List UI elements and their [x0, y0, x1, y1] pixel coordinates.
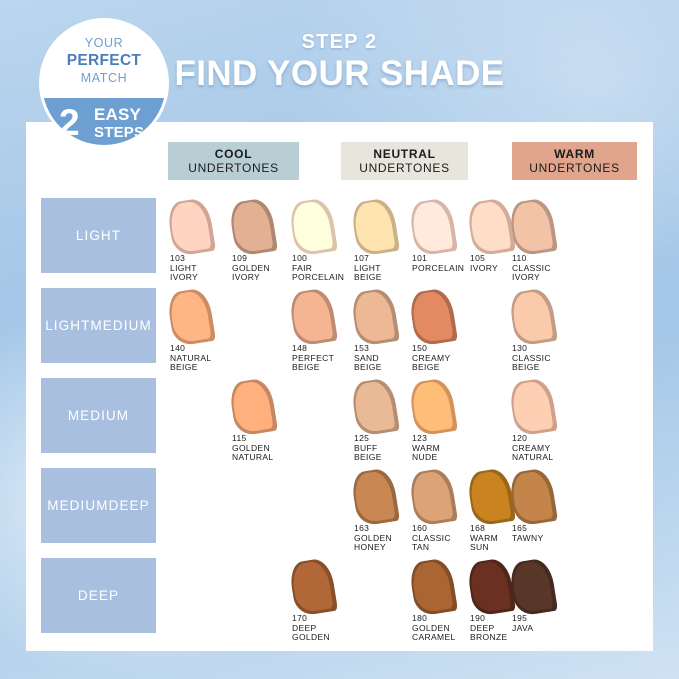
undertone-name: WARM [554, 147, 595, 161]
foundation-smear-icon [288, 557, 338, 617]
badge-line-match: MATCH [42, 71, 166, 85]
row-label-text: MEDIUM [47, 498, 108, 514]
shade-name-line: BEIGE [354, 273, 382, 283]
badge-line-perfect: PERFECT [42, 52, 166, 70]
shade-caption: 100FAIRPORCELAIN [292, 254, 344, 283]
shade-caption: 180GOLDENCARAMEL [412, 614, 456, 643]
row-label-light[interactable]: LIGHT [41, 198, 156, 273]
perfect-match-badge: YOUR PERFECT MATCH 2 EASY STEPS [39, 18, 169, 148]
foundation-smear-icon [508, 287, 558, 347]
shade-caption: 170DEEPGOLDEN [292, 614, 330, 643]
foundation-smear-icon [288, 287, 338, 347]
shade-name-line: NATURAL [512, 453, 554, 463]
foundation-smear-icon [166, 287, 216, 347]
foundation-smear-icon [350, 467, 400, 527]
row-label-text: MEDIUM [68, 408, 129, 424]
shade-name-line: PORCELAIN [292, 273, 344, 283]
foundation-smear-icon [408, 557, 458, 617]
row-label-light-medium[interactable]: LIGHTMEDIUM [41, 288, 156, 363]
shade-name-line: IVORY [170, 273, 198, 283]
shade-caption: 115GOLDENNATURAL [232, 434, 274, 463]
row-label-medium[interactable]: MEDIUM [41, 378, 156, 453]
shade-name-line: TAWNY [512, 534, 544, 544]
shade-name-line: NUDE [412, 453, 440, 463]
shade-name-line: BEIGE [170, 363, 212, 373]
shade-caption: 163GOLDENHONEY [354, 524, 392, 553]
foundation-smear-icon [350, 377, 400, 437]
shade-name-line: GOLDEN [292, 633, 330, 643]
shade-caption: 120CREAMYNATURAL [512, 434, 554, 463]
foundation-smear-icon [508, 557, 558, 617]
shade-name-line: IVORY [512, 273, 551, 283]
row-label-medium-deep[interactable]: MEDIUMDEEP [41, 468, 156, 543]
shade-caption: 103LIGHTIVORY [170, 254, 198, 283]
shade-caption: 140NATURALBEIGE [170, 344, 212, 373]
shade-name-line: BEIGE [354, 453, 382, 463]
shade-caption: 123WARMNUDE [412, 434, 440, 463]
shade-caption: 130CLASSICBEIGE [512, 344, 551, 373]
shade-name-line: BEIGE [292, 363, 334, 373]
foundation-smear-icon [166, 197, 216, 257]
shade-name-line: JAVA [512, 624, 533, 634]
shade-caption: 153SANDBEIGE [354, 344, 382, 373]
foundation-smear-icon [228, 377, 278, 437]
foundation-smear-icon [508, 467, 558, 527]
badge-line-your: YOUR [42, 36, 166, 50]
foundation-smear-icon [228, 197, 278, 257]
foundation-smear-icon [508, 197, 558, 257]
undertone-sub: UNDERTONES [188, 161, 279, 175]
shade-caption: 101PORCELAIN [412, 254, 464, 273]
shade-caption: 150CREAMYBEIGE [412, 344, 450, 373]
foundation-smear-icon [408, 287, 458, 347]
shade-name-line: HONEY [354, 543, 392, 553]
row-label-text: DEEP [78, 588, 119, 604]
shade-name-line: TAN [412, 543, 451, 553]
shade-caption: 160CLASSICTAN [412, 524, 451, 553]
shade-caption: 105IVORY [470, 254, 498, 273]
shade-caption: 125BUFFBEIGE [354, 434, 382, 463]
undertone-sub: UNDERTONES [359, 161, 450, 175]
foundation-smear-icon [508, 377, 558, 437]
bottom-fade [0, 651, 679, 679]
badge-step-number: 2 [59, 104, 80, 141]
undertone-name: NEUTRAL [373, 147, 435, 161]
undertone-name: COOL [215, 147, 252, 161]
shade-caption: 195JAVA [512, 614, 533, 633]
shade-caption: 148PERFECTBEIGE [292, 344, 334, 373]
row-label-text: MEDIUM [90, 318, 151, 334]
shade-name-line: NATURAL [232, 453, 274, 463]
row-label-text: LIGHT [45, 318, 90, 334]
poster-canvas: YOUR PERFECT MATCH 2 EASY STEPS STEP 2 F… [0, 0, 679, 679]
badge-line-easy: EASY [94, 106, 141, 123]
shade-name-line: CARAMEL [412, 633, 456, 643]
shade-name-line: SUN [470, 543, 498, 553]
undertone-sub: UNDERTONES [529, 161, 620, 175]
row-label-text: DEEP [109, 498, 150, 514]
shade-name-line: BEIGE [412, 363, 450, 373]
shade-name-line: PORCELAIN [412, 264, 464, 274]
row-label-deep[interactable]: DEEP [41, 558, 156, 633]
shade-caption: 110CLASSICIVORY [512, 254, 551, 283]
shade-caption: 107LIGHTBEIGE [354, 254, 382, 283]
shade-name-line: IVORY [470, 264, 498, 274]
shade-name-line: IVORY [232, 273, 270, 283]
shade-caption: 190DEEPBRONZE [470, 614, 508, 643]
foundation-smear-icon [350, 197, 400, 257]
foundation-smear-icon [350, 287, 400, 347]
undertone-header-warm: WARM UNDERTONES [512, 142, 637, 180]
badge-line-steps: STEPS [94, 125, 144, 140]
shade-name-line: BEIGE [512, 363, 551, 373]
foundation-smear-icon [408, 197, 458, 257]
foundation-smear-icon [288, 197, 338, 257]
shade-name-line: BRONZE [470, 633, 508, 643]
undertone-header-cool: COOL UNDERTONES [168, 142, 299, 180]
foundation-smear-icon [408, 377, 458, 437]
shade-caption: 109GOLDENIVORY [232, 254, 270, 283]
shade-name-line: BEIGE [354, 363, 382, 373]
row-label-text: LIGHT [76, 228, 121, 244]
shade-caption: 168WARMSUN [470, 524, 498, 553]
undertone-header-neutral: NEUTRAL UNDERTONES [341, 142, 468, 180]
foundation-smear-icon [408, 467, 458, 527]
shade-caption: 165TAWNY [512, 524, 544, 543]
